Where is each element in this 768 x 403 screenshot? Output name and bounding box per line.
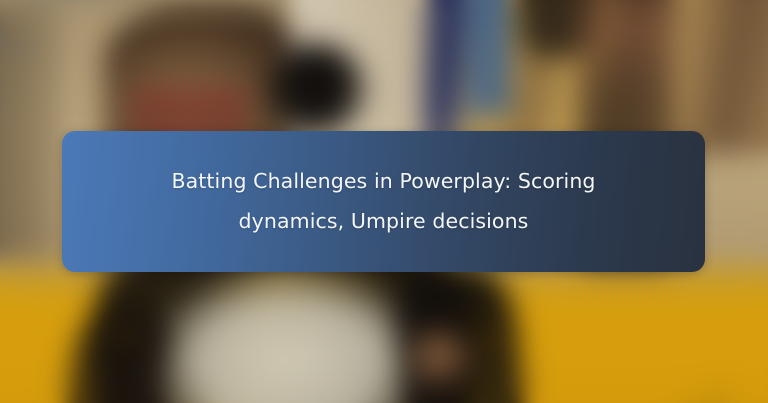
title-card: Batting Challenges in Powerplay: Scoring… <box>62 131 705 272</box>
page-title: Batting Challenges in Powerplay: Scoring… <box>149 162 619 242</box>
hero-banner: Batting Challenges in Powerplay: Scoring… <box>0 0 768 403</box>
